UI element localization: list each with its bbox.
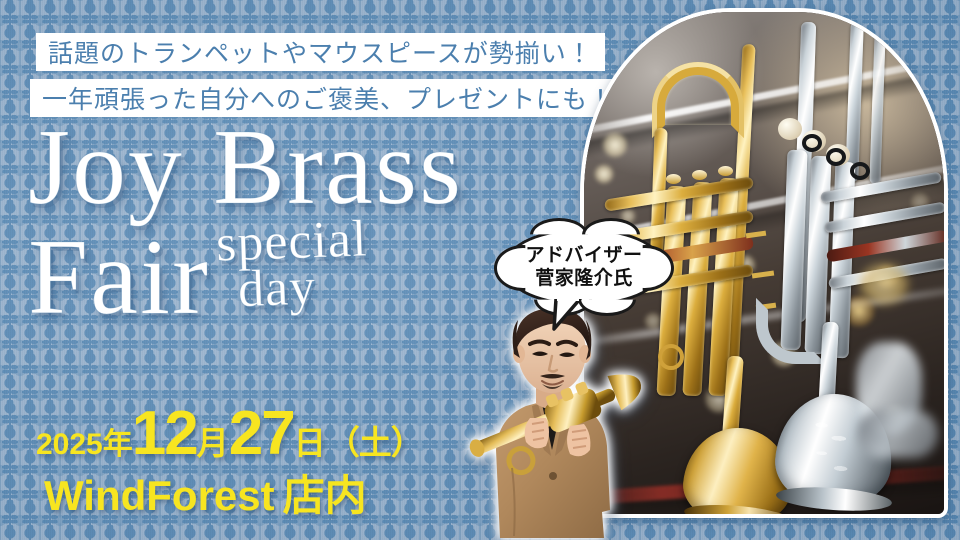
trumpet-slide-tube bbox=[869, 34, 885, 184]
valve-button bbox=[666, 174, 681, 184]
advisor-hand-right bbox=[567, 424, 590, 456]
date-month: 12 bbox=[132, 398, 197, 469]
title-script-block: special day bbox=[216, 219, 367, 311]
date-day-of-week: （土） bbox=[327, 416, 423, 464]
bell-engraving bbox=[800, 412, 869, 486]
valve-button bbox=[692, 170, 707, 180]
date-day-unit: 日 bbox=[294, 418, 326, 464]
title-primary: Joy Brass bbox=[28, 118, 568, 217]
venue-suffix: 店内 bbox=[283, 472, 367, 519]
lead-copy-line-1: 話題のトランペットやマウスピースが勢揃い！ bbox=[36, 33, 605, 71]
background-instrument bbox=[860, 264, 908, 304]
advisor-photo-cutout bbox=[452, 300, 648, 540]
promo-banner: 話題のトランペットやマウスピースが勢揃い！ 一年頑張った自分へのご褒美、プレゼン… bbox=[0, 0, 960, 540]
jacket-button bbox=[549, 472, 557, 480]
background-instrument bbox=[858, 410, 938, 458]
title-block: Joy Brass Fair special day bbox=[28, 118, 568, 327]
valve-button-pearl bbox=[778, 118, 802, 140]
valve-stem-ring bbox=[826, 148, 846, 166]
valve-stem-ring bbox=[850, 162, 870, 180]
title-script-line-2: day bbox=[237, 263, 368, 313]
event-venue: WindForest店内 bbox=[44, 462, 367, 523]
tuning-slide-loop bbox=[756, 298, 826, 364]
title-secondary: Fair bbox=[28, 228, 210, 327]
date-day: 27 bbox=[229, 398, 294, 469]
event-date: 2025年 12 月 27 日 （土） bbox=[36, 398, 423, 469]
valve-stem-ring bbox=[802, 134, 822, 152]
venue-name: WindForest bbox=[44, 472, 275, 519]
bubble-line-1: アドバイザー bbox=[525, 244, 642, 267]
date-year: 2025年 bbox=[36, 419, 133, 463]
valve-casing bbox=[682, 182, 712, 397]
tuning-slide-highlight bbox=[652, 62, 744, 138]
advisor-speech-bubble: アドバイザー 菅家隆介氏 bbox=[505, 228, 663, 306]
third-valve-ring bbox=[658, 344, 684, 370]
bubble-line-2: 菅家隆介氏 bbox=[535, 267, 633, 290]
valve-button bbox=[718, 166, 733, 176]
bubble-tail bbox=[550, 299, 584, 333]
date-month-unit: 月 bbox=[197, 418, 229, 464]
